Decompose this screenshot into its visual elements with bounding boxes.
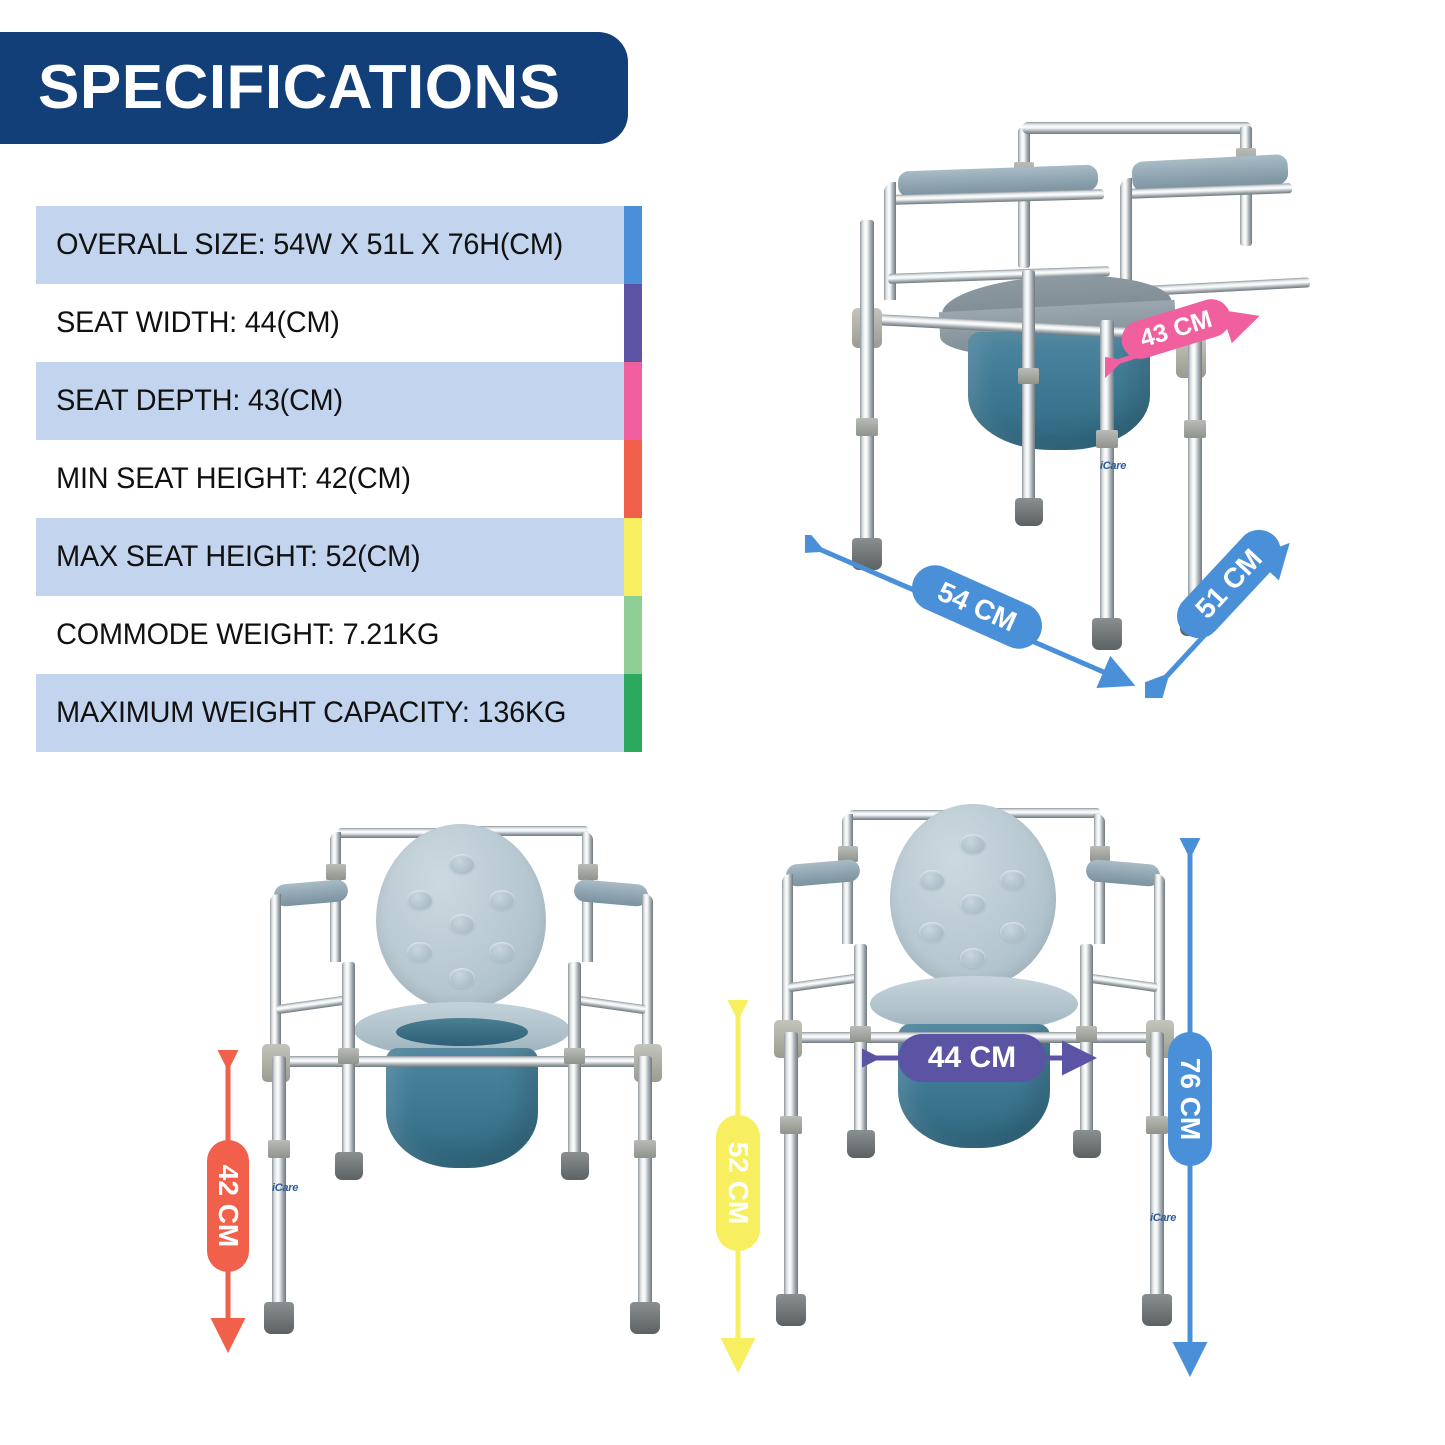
callout-seat-width: 44 CM	[898, 1034, 1046, 1082]
frame-tube	[276, 995, 353, 1014]
callout-label: 76 CM	[1174, 1058, 1206, 1140]
spec-color-tab	[624, 284, 642, 362]
spec-color-tab	[624, 362, 642, 440]
height-adjust-collar	[268, 1140, 290, 1158]
frame-tube	[270, 894, 281, 1064]
callout-label: 52 CM	[722, 1142, 754, 1224]
rubber-foot-tip	[264, 1302, 294, 1334]
lid-bumper	[960, 948, 986, 968]
frame-tube	[782, 874, 793, 1044]
callout-max-seat-height: 52 CM	[716, 1115, 760, 1251]
height-adjust-collar	[634, 1140, 656, 1158]
lid-bumper	[960, 834, 986, 854]
spec-row-seat-width: SEAT WIDTH: 44(CM)	[36, 284, 640, 362]
rubber-foot-tip	[776, 1294, 806, 1326]
spec-row-seat-depth: SEAT DEPTH: 43(CM)	[36, 362, 640, 440]
seat-opening	[396, 1018, 528, 1046]
frame-tube	[788, 973, 865, 992]
lid-bumper	[449, 854, 475, 874]
spec-color-tab	[624, 440, 642, 518]
spec-row-commode-weight: COMMODE WEIGHT: 7.21KG	[36, 596, 640, 674]
height-adjust-collar	[780, 1116, 802, 1134]
callout-overall-height: 76 CM	[1168, 1032, 1212, 1166]
spec-row-max-seat-height: MAX SEAT HEIGHT: 52(CM)	[36, 518, 640, 596]
rubber-foot-tip	[1142, 1294, 1172, 1326]
page-title: SPECIFICATIONS	[0, 57, 561, 119]
leg-tube	[784, 1032, 798, 1300]
specifications-list: OVERALL SIZE: 54W X 51L X 76H(CM) SEAT W…	[36, 206, 640, 752]
product-image-front-view-lid-closed: iCare	[762, 780, 1182, 1390]
rubber-foot-tip	[1073, 1130, 1101, 1158]
lid-bumper	[1000, 870, 1026, 890]
frame-tube	[1022, 122, 1252, 134]
leg-tube	[638, 1056, 652, 1308]
spec-label: SEAT WIDTH: 44(CM)	[36, 306, 340, 340]
spec-label: OVERALL SIZE: 54W X 51L X 76H(CM)	[36, 228, 563, 262]
lid-bumper	[919, 870, 945, 890]
callout-label: 42 CM	[212, 1165, 244, 1247]
height-adjust-collar	[856, 418, 878, 436]
specifications-header-banner: SPECIFICATIONS	[0, 32, 628, 144]
spec-label: MIN SEAT HEIGHT: 42(CM)	[36, 462, 411, 496]
height-adjust-collar	[1184, 420, 1206, 438]
frame-tube	[1082, 973, 1159, 992]
rubber-foot-tip	[335, 1152, 363, 1180]
spec-color-tab	[624, 674, 642, 752]
spec-color-tab	[624, 206, 642, 284]
spec-label: SEAT DEPTH: 43(CM)	[36, 384, 343, 418]
height-adjust-collar	[564, 1048, 585, 1064]
product-image-front-view-lid-open: iCare	[250, 790, 670, 1390]
leg-tube	[1150, 1032, 1164, 1300]
lid-bumper	[407, 890, 433, 910]
height-adjust-collar	[326, 864, 346, 880]
frame-tube	[642, 894, 653, 1064]
spec-row-overall-size: OVERALL SIZE: 54W X 51L X 76H(CM)	[36, 206, 640, 284]
callout-min-seat-height: 42 CM	[207, 1140, 249, 1272]
rubber-foot-tip	[561, 1152, 589, 1180]
spec-label: COMMODE WEIGHT: 7.21KG	[36, 618, 439, 652]
frame-tube	[1154, 874, 1165, 1044]
brand-logo: iCare	[272, 1182, 298, 1194]
frame-tube	[570, 995, 647, 1014]
lid-bumper	[407, 942, 433, 962]
lid-bumper	[449, 968, 475, 988]
spec-color-tab	[624, 596, 642, 674]
lid-bumper	[919, 922, 945, 942]
cross-rail	[278, 1056, 646, 1067]
spec-label: MAXIMUM WEIGHT CAPACITY: 136KG	[36, 696, 566, 730]
rubber-foot-tip	[1015, 498, 1043, 526]
height-adjust-collar	[578, 864, 598, 880]
lid-bumper	[489, 890, 515, 910]
rubber-foot-tip	[847, 1130, 875, 1158]
lid-bumper	[489, 942, 515, 962]
spec-label: MAX SEAT HEIGHT: 52(CM)	[36, 540, 420, 574]
leg-tube	[860, 220, 874, 540]
leg-tube	[1022, 270, 1035, 500]
height-adjust-collar	[1146, 1116, 1168, 1134]
spec-row-max-weight-capacity: MAXIMUM WEIGHT CAPACITY: 136KG	[36, 674, 640, 752]
lid-bumper	[449, 914, 475, 934]
lid-bumper	[960, 894, 986, 914]
brand-logo: iCare	[1100, 460, 1126, 472]
callout-label: 44 CM	[928, 1041, 1016, 1075]
spec-color-tab	[624, 518, 642, 596]
height-adjust-collar	[1018, 368, 1039, 384]
rubber-foot-tip	[630, 1302, 660, 1334]
height-adjust-collar	[1096, 430, 1118, 448]
lid-bumper	[1000, 922, 1026, 942]
spec-row-min-seat-height: MIN SEAT HEIGHT: 42(CM)	[36, 440, 640, 518]
height-adjust-collar	[338, 1048, 359, 1064]
